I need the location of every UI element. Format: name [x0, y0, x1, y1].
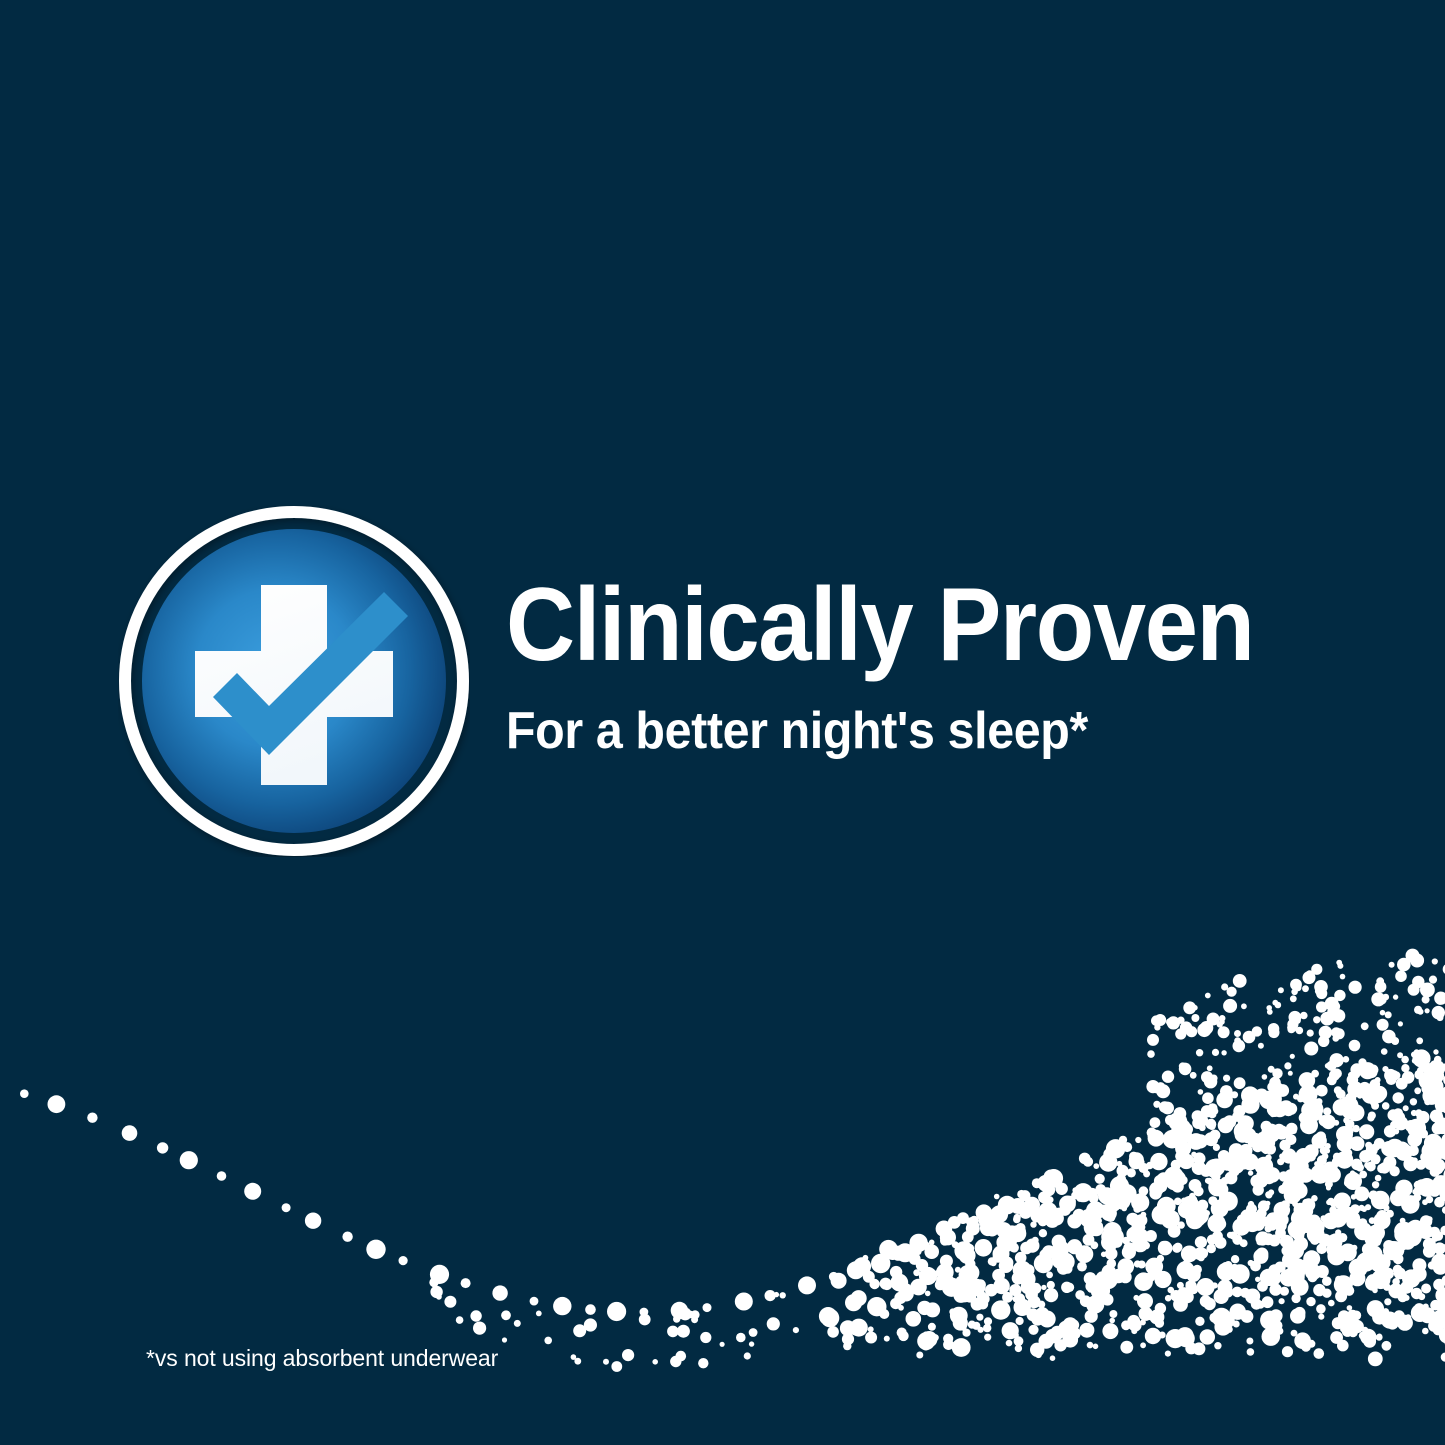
wave-dot — [1210, 1216, 1224, 1230]
wave-dot — [1375, 1265, 1382, 1272]
wave-dot — [1393, 1129, 1399, 1135]
wave-dot — [1232, 1235, 1242, 1245]
wave-dot — [1294, 1332, 1311, 1349]
wave-dot — [1230, 1304, 1246, 1320]
wave-dot — [1338, 1313, 1357, 1332]
wave-dot — [1406, 1220, 1424, 1238]
wave-dot — [1221, 1050, 1226, 1055]
wave-dot — [1434, 1242, 1445, 1254]
headline-block: Clinically Proven For a better night's s… — [506, 573, 1386, 759]
wave-dot — [1173, 1243, 1182, 1252]
wave-dot — [1128, 1323, 1134, 1329]
wave-dot — [1039, 1249, 1050, 1260]
wave-dot — [1147, 1263, 1160, 1276]
wave-dot — [1080, 1209, 1099, 1228]
wave-dot — [1208, 1196, 1217, 1205]
wave-dot — [1089, 1222, 1104, 1237]
wave-dot — [1316, 1098, 1323, 1105]
wave-dot — [1209, 1313, 1219, 1323]
wave-dot — [1356, 1252, 1375, 1271]
wave-dot — [1039, 1334, 1054, 1349]
wave-dot — [1165, 1171, 1184, 1190]
wave-dot — [1244, 1216, 1260, 1232]
wave-dot — [1268, 1189, 1274, 1195]
wave-dot — [1416, 1037, 1423, 1044]
wave-dot — [514, 1320, 521, 1327]
wave-dot — [1411, 1110, 1417, 1116]
wave-dot — [1302, 985, 1309, 992]
wave-dot — [985, 1222, 999, 1236]
wave-dot — [1420, 1152, 1430, 1162]
wave-dot — [1302, 1198, 1315, 1211]
wave-dot — [1287, 1155, 1295, 1163]
wave-dot — [639, 1314, 651, 1326]
wave-dot — [1437, 1140, 1445, 1153]
wave-dot — [1359, 1062, 1376, 1079]
wave-dot — [1028, 1296, 1041, 1309]
wave-dot — [1344, 1179, 1352, 1187]
wave-dot — [1414, 1303, 1425, 1314]
wave-dot — [852, 1330, 858, 1336]
wave-dot — [1212, 1218, 1219, 1225]
wave-dot — [1086, 1201, 1105, 1220]
wave-dot — [1239, 1126, 1254, 1141]
wave-dot — [1381, 1312, 1398, 1329]
wave-dot — [1346, 1211, 1360, 1225]
wave-dot — [1127, 1315, 1140, 1328]
wave-dot — [952, 1241, 959, 1248]
wave-dot — [1310, 1107, 1323, 1120]
wave-dot — [1352, 1125, 1359, 1132]
wave-dot — [1229, 1143, 1244, 1158]
wave-dot — [1342, 1326, 1353, 1337]
wave-dot — [1365, 1276, 1380, 1291]
wave-dot — [1424, 1134, 1443, 1153]
wave-dot — [1313, 1284, 1325, 1296]
wave-dot — [1148, 1130, 1165, 1147]
wave-dot — [1246, 1204, 1257, 1215]
wave-dot — [1038, 1216, 1048, 1226]
wave-dot — [1435, 1287, 1445, 1303]
wave-dot — [1101, 1252, 1107, 1258]
wave-dot — [1275, 1262, 1286, 1273]
wave-dot — [1208, 1164, 1215, 1171]
wave-dot — [1295, 1148, 1312, 1165]
wave-dot — [1423, 1154, 1439, 1170]
wave-dot — [1257, 1281, 1268, 1292]
wave-dot — [1407, 1119, 1426, 1138]
wave-dot — [1103, 1148, 1115, 1160]
wave-dot — [1422, 1328, 1429, 1335]
wave-dot — [1152, 1205, 1172, 1225]
wave-dot — [1068, 1327, 1080, 1339]
wave-dot — [1375, 1240, 1381, 1246]
wave-dot — [1334, 990, 1345, 1001]
wave-dot — [1384, 1125, 1396, 1137]
wave-dot — [1349, 1109, 1361, 1121]
wave-dot — [1252, 1141, 1263, 1152]
wave-dot — [720, 1342, 725, 1347]
wave-dot — [1417, 1009, 1423, 1015]
wave-dot — [1371, 1270, 1390, 1289]
wave-dot — [1203, 1298, 1215, 1310]
wave-dot — [1367, 1300, 1384, 1317]
wave-dot — [1401, 1064, 1409, 1072]
wave-dot — [1146, 1162, 1154, 1170]
wave-dot — [1000, 1256, 1013, 1269]
wave-dot — [1197, 1254, 1204, 1261]
wave-dot — [1392, 1278, 1400, 1286]
wave-dot — [1412, 1157, 1418, 1163]
wave-dot — [1256, 1248, 1269, 1261]
wave-dot — [20, 1089, 29, 1098]
wave-dot — [1277, 1158, 1284, 1165]
wave-dot — [1218, 1150, 1230, 1162]
wave-dot — [1383, 1308, 1390, 1315]
wave-dot — [1435, 1093, 1445, 1103]
wave-dot — [968, 1321, 976, 1329]
wave-dot — [1170, 1127, 1182, 1139]
wave-dot — [1401, 1195, 1420, 1214]
wave-dot — [1209, 1130, 1220, 1141]
wave-dot — [1135, 1214, 1147, 1226]
wave-dot — [1322, 1276, 1332, 1286]
page-subtitle: For a better night's sleep* — [506, 677, 1324, 759]
wave-dot — [1333, 1153, 1341, 1161]
wave-dot — [1393, 1265, 1402, 1274]
wave-dot — [429, 1278, 438, 1287]
wave-dot — [1241, 1128, 1257, 1144]
wave-dot — [840, 1320, 856, 1336]
wave-dot — [1067, 1214, 1082, 1229]
wave-dot — [1257, 1301, 1265, 1309]
wave-dot — [1015, 1293, 1025, 1303]
wave-dot — [1176, 1327, 1193, 1344]
wave-dot — [1370, 1254, 1382, 1266]
wave-dot — [1423, 1304, 1429, 1310]
wave-dot — [1265, 1225, 1272, 1232]
wave-dot — [1366, 1274, 1379, 1287]
wave-dot — [1008, 1239, 1016, 1247]
wave-dot — [843, 1342, 851, 1350]
wave-dot — [1429, 1229, 1436, 1236]
wave-dot — [1393, 1108, 1403, 1118]
wave-dot — [1042, 1245, 1056, 1259]
wave-dot — [1006, 1340, 1013, 1347]
wave-dot — [1303, 1250, 1320, 1267]
wave-dot — [1220, 1085, 1233, 1098]
wave-dot — [1376, 1210, 1388, 1222]
wave-dot — [1372, 1143, 1380, 1151]
wave-dot — [1383, 1241, 1402, 1260]
wave-dot — [1240, 1288, 1250, 1298]
wave-dot — [1373, 1301, 1383, 1311]
wave-dot — [1274, 1202, 1291, 1219]
wave-dot — [985, 1284, 998, 1297]
wave-dot — [1288, 1258, 1307, 1277]
wave-dot — [1291, 1210, 1309, 1228]
wave-dot — [1426, 1147, 1437, 1158]
wave-dot — [850, 1319, 868, 1337]
wave-dot — [1299, 1185, 1305, 1191]
wave-dot — [1332, 1035, 1339, 1042]
wave-dot — [1381, 1048, 1388, 1055]
wave-dot — [1276, 1213, 1289, 1226]
wave-dot — [1133, 1295, 1139, 1301]
wave-dot — [879, 1309, 889, 1319]
wave-dot — [1019, 1271, 1035, 1287]
wave-dot — [1083, 1234, 1095, 1246]
wave-dot — [1388, 1109, 1400, 1121]
wave-dot — [1363, 1335, 1376, 1348]
wave-dot — [1314, 1348, 1325, 1359]
wave-dot — [1432, 1006, 1445, 1019]
wave-dot — [1172, 1212, 1179, 1219]
wave-dot — [1414, 1070, 1424, 1080]
wave-dot — [735, 1293, 753, 1311]
wave-dot — [898, 1286, 914, 1302]
wave-dot — [1319, 1026, 1332, 1039]
wave-dot — [744, 1352, 751, 1359]
wave-dot — [1010, 1238, 1017, 1245]
wave-dot — [1178, 1181, 1183, 1186]
wave-dot — [1161, 1102, 1174, 1115]
wave-dot — [1291, 1294, 1300, 1303]
wave-dot — [1420, 1215, 1432, 1227]
wave-dot — [965, 1259, 975, 1269]
wave-dot — [925, 1291, 931, 1297]
wave-dot — [1382, 1341, 1392, 1351]
wave-dot — [1251, 1136, 1265, 1150]
wave-dot — [1327, 1234, 1343, 1250]
wave-dot — [1012, 1274, 1018, 1280]
wave-dot — [1030, 1283, 1041, 1294]
wave-dot — [1331, 1027, 1341, 1037]
wave-dot — [1285, 1173, 1300, 1188]
wave-dot — [1306, 970, 1313, 977]
wave-dot — [1149, 1087, 1154, 1092]
wave-dot — [1355, 1219, 1363, 1227]
wave-dot — [1394, 1227, 1410, 1243]
wave-dot — [1332, 1009, 1345, 1022]
wave-dot — [1232, 1111, 1243, 1122]
wave-dot — [1361, 1083, 1373, 1095]
wave-dot — [1178, 1153, 1188, 1163]
wave-dot — [1204, 1075, 1217, 1088]
wave-dot — [1429, 1060, 1442, 1073]
wave-dot — [1286, 1265, 1305, 1284]
wave-dot — [1426, 1067, 1444, 1085]
wave-dot — [940, 1255, 953, 1268]
wave-dot — [1361, 1085, 1379, 1103]
wave-dot — [1259, 1091, 1277, 1109]
wave-dot — [1285, 1183, 1295, 1193]
wave-dot — [342, 1232, 352, 1242]
wave-dot — [1356, 1108, 1362, 1114]
wave-dot — [1348, 1104, 1365, 1121]
wave-dot — [1309, 1224, 1321, 1236]
wave-dot — [305, 1213, 321, 1229]
wave-dot — [530, 1297, 539, 1306]
wave-dot — [1426, 1096, 1434, 1104]
wave-dot — [1316, 1265, 1329, 1278]
wave-dot — [1355, 1176, 1361, 1182]
wave-dot — [1432, 1122, 1444, 1134]
wave-dot — [774, 1292, 779, 1297]
wave-dot — [1318, 1036, 1329, 1047]
wave-dot — [1163, 1130, 1182, 1149]
wave-dot — [1351, 1159, 1362, 1170]
wave-dot — [1346, 1127, 1354, 1135]
wave-dot — [1013, 1225, 1026, 1238]
wave-dot — [943, 1339, 954, 1350]
wave-dot — [1156, 1084, 1170, 1098]
wave-dot — [975, 1279, 986, 1290]
wave-dot — [1398, 1021, 1403, 1026]
wave-dot — [1279, 1153, 1285, 1159]
wave-dot — [1080, 1295, 1092, 1307]
wave-dot — [1208, 1159, 1225, 1176]
wave-dot — [1154, 1088, 1159, 1093]
wave-dot — [1208, 1219, 1218, 1229]
wave-dot — [1340, 1326, 1346, 1332]
wave-dot — [1240, 1209, 1254, 1223]
wave-dot — [1147, 1128, 1157, 1138]
wave-dot — [1397, 1239, 1408, 1250]
wave-dot — [1396, 1078, 1408, 1090]
wave-dot — [1017, 1190, 1026, 1199]
wave-dot — [1327, 1198, 1335, 1206]
wave-dot — [1370, 1098, 1378, 1106]
wave-dot — [1310, 1164, 1330, 1184]
wave-dot — [1154, 1271, 1171, 1288]
wave-dot — [1403, 1203, 1411, 1211]
wave-dot — [1412, 1058, 1417, 1063]
wave-dot — [1153, 1273, 1161, 1281]
wave-dot — [1393, 1111, 1405, 1123]
wave-dot — [1192, 1161, 1206, 1175]
wave-dot — [536, 1311, 542, 1317]
wave-dot — [1171, 1160, 1181, 1170]
wave-dot — [936, 1272, 954, 1290]
wave-dot — [1433, 1325, 1444, 1336]
wave-dot — [1155, 1303, 1166, 1314]
wave-dot — [1098, 1187, 1115, 1204]
wave-dot — [1193, 1265, 1202, 1274]
wave-dot — [1382, 1030, 1396, 1044]
wave-dot — [1150, 1117, 1161, 1128]
wave-dot — [1156, 1082, 1166, 1092]
wave-dot — [1090, 1241, 1098, 1249]
wave-dot — [1245, 1289, 1260, 1304]
wave-dot — [1404, 1295, 1410, 1301]
wave-dot — [1293, 1229, 1305, 1241]
wave-dot — [1422, 1141, 1441, 1160]
wave-dot — [1424, 1099, 1431, 1106]
wave-dot — [691, 1316, 698, 1323]
wave-dot — [1175, 1141, 1191, 1157]
wave-dot — [1256, 1138, 1268, 1150]
wave-dot — [1289, 1175, 1303, 1189]
wave-dot — [461, 1278, 471, 1288]
wave-dot — [1298, 1205, 1310, 1217]
wave-dot — [1260, 1311, 1279, 1330]
wave-dot — [1034, 1254, 1053, 1273]
wave-dot — [1218, 1118, 1234, 1134]
wave-dot — [1432, 1235, 1439, 1242]
wave-dot — [1246, 1094, 1252, 1100]
wave-dot — [1102, 1323, 1118, 1339]
wave-dot — [1306, 1152, 1316, 1162]
wave-dot — [1185, 1342, 1197, 1354]
wave-dot — [1104, 1203, 1116, 1215]
wave-dot — [1141, 1212, 1147, 1218]
wave-dot — [853, 1257, 871, 1275]
wave-dot — [1297, 1095, 1304, 1102]
wave-dot — [1284, 1062, 1291, 1069]
wave-dot — [1061, 1245, 1069, 1253]
wave-dot — [1182, 1270, 1190, 1278]
wave-dot — [1169, 1179, 1180, 1190]
wave-dot — [1370, 1155, 1376, 1161]
wave-dot — [1322, 1153, 1329, 1160]
wave-dot — [1107, 1259, 1117, 1269]
wave-dot — [1262, 1074, 1268, 1080]
wave-dot — [953, 1315, 968, 1330]
wave-dot — [1335, 1290, 1347, 1302]
wave-dot — [1359, 1171, 1367, 1179]
wave-dot — [444, 1296, 456, 1308]
wave-dot — [1036, 1208, 1042, 1214]
wave-dot — [1105, 1229, 1111, 1235]
wave-dot — [1193, 1152, 1205, 1164]
wave-dot — [1185, 1214, 1192, 1221]
wave-dot — [1030, 1343, 1044, 1357]
wave-dot — [1237, 1215, 1246, 1224]
wave-dot — [1197, 1278, 1215, 1296]
wave-dot — [1126, 1213, 1139, 1226]
wave-dot — [1186, 1212, 1196, 1222]
wave-dot — [1258, 1255, 1266, 1263]
wave-dot — [904, 1284, 911, 1291]
wave-dot — [1325, 1063, 1331, 1069]
wave-dot — [1267, 1082, 1277, 1092]
wave-dot — [1371, 1191, 1390, 1210]
wave-dot — [1096, 1271, 1108, 1283]
wave-dot — [1013, 1214, 1020, 1221]
wave-dot — [1329, 1209, 1348, 1228]
wave-dot — [1416, 1179, 1429, 1192]
wave-dot — [1349, 981, 1362, 994]
wave-dot — [1270, 1112, 1276, 1118]
wave-dot — [1192, 1005, 1198, 1011]
wave-dot — [1429, 1186, 1440, 1197]
wave-dot — [1177, 1282, 1184, 1289]
wave-dot — [1412, 1189, 1417, 1194]
wave-dot — [1206, 1244, 1216, 1254]
wave-dot — [1138, 1223, 1146, 1231]
wave-dot — [1234, 1321, 1240, 1327]
wave-dot — [940, 1229, 956, 1245]
wave-dot — [1421, 1284, 1431, 1294]
wave-dot — [1345, 1244, 1351, 1250]
wave-dot — [1170, 1290, 1181, 1301]
wave-dot — [1004, 1225, 1019, 1240]
wave-dot — [1434, 1148, 1445, 1159]
wave-dot — [991, 1300, 1010, 1319]
wave-dot — [1268, 1066, 1275, 1073]
wave-dot — [1313, 1016, 1320, 1023]
